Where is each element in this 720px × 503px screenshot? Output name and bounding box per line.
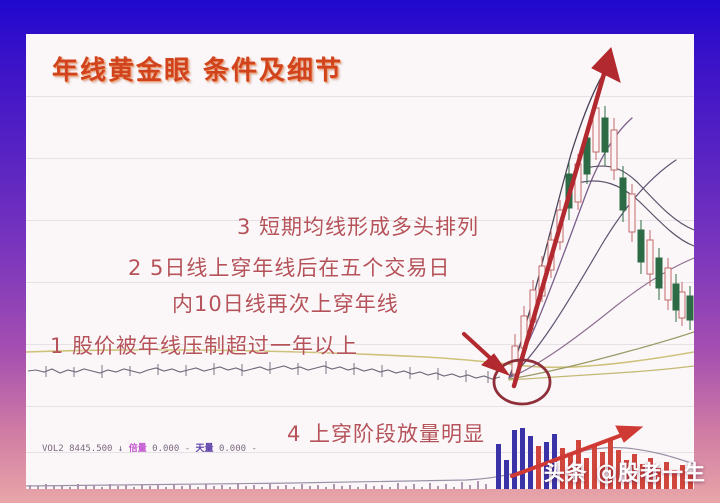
breakout-candles: [512, 98, 693, 378]
flat-consolidation-candles: [28, 361, 500, 383]
indicator-status-bar[interactable]: VOL2 8445.500 ↓ 倍量 0.000 - 天量 0.000 -: [42, 441, 257, 454]
down-arrow-icon: ↓: [118, 444, 123, 454]
condition-1-text: 1 股价被年线压制超过一年以上: [50, 330, 358, 360]
indicator-value-beiliang: 0.000: [152, 444, 179, 454]
indicator-label-beiliang: 倍量: [129, 444, 147, 454]
indicator-name: VOL2: [42, 444, 64, 454]
condition-2-text-line1: 2 5日线上穿年线后在五个交易日: [128, 252, 450, 282]
indicator-label-tianliang: 天量: [196, 444, 214, 454]
condition-3-text: 3 短期均线形成多头排列: [237, 211, 479, 241]
breakout-up-arrow: [514, 48, 620, 386]
watermark-text: 头条 @股老一生: [544, 457, 706, 487]
condition-4-text: 4 上穿阶段放量明显: [287, 418, 485, 448]
indicator-value-tianliang: 0.000: [219, 444, 246, 454]
pointer-arrow: [464, 334, 509, 375]
condition-2-text-line2: 内10日线再次上穿年线: [172, 288, 399, 318]
indicator-value: 8445.500: [69, 444, 112, 454]
page-title: 年线黄金眼 条件及细节: [52, 50, 343, 87]
indicator-dash-tianliang: -: [251, 444, 256, 454]
slide-root: VOL2 8445.500 ↓ 倍量 0.000 - 天量 0.000 - 年线…: [0, 0, 720, 503]
indicator-dash-beiliang: -: [185, 444, 190, 454]
